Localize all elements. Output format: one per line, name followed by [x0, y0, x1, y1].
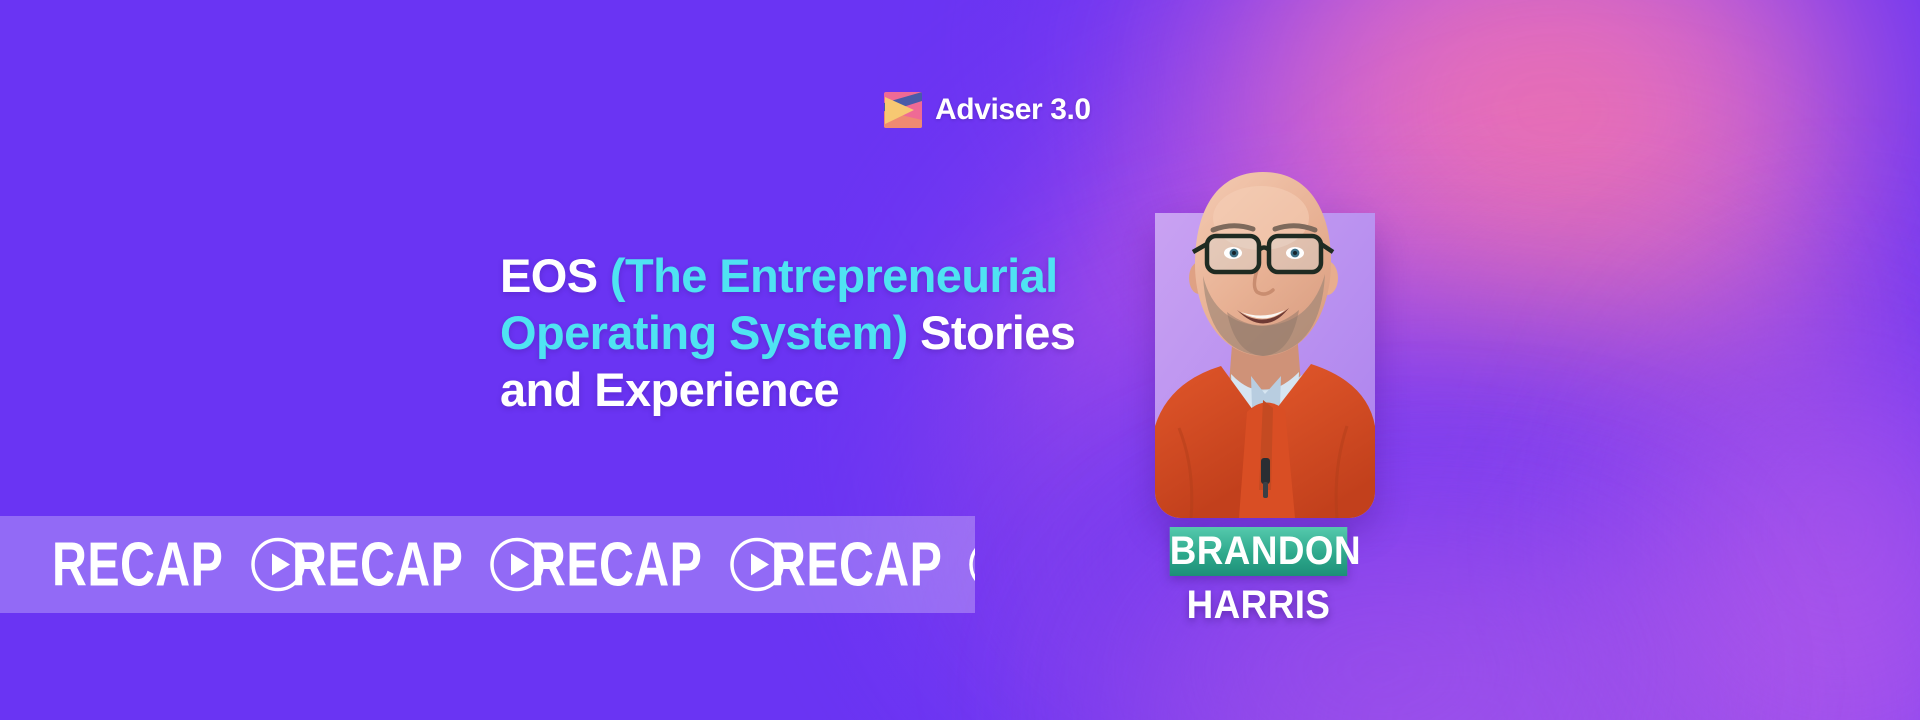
adviser-play-mark-icon	[884, 92, 922, 128]
headline-part-1: EOS	[500, 249, 610, 302]
brand-name-label: Adviser 3.0	[935, 93, 1091, 127]
recap-word: RECAP	[52, 529, 223, 600]
speaker-photo-frame	[1155, 160, 1375, 518]
speaker-last-name: HARRIS	[1170, 580, 1348, 630]
recap-marquee-track: RECAP RECAP RECAP RECAP RECAP	[52, 529, 975, 600]
recap-word: RECAP	[771, 529, 942, 600]
avatar	[1155, 160, 1375, 518]
page-title: EOS (The Entrepreneurial Operating Syste…	[500, 248, 1140, 419]
speaker-name-badge: BRANDON HARRIS	[1162, 527, 1355, 630]
recap-banner: RECAP RECAP RECAP RECAP RECAP	[0, 516, 975, 613]
speaker-first-name: BRANDON	[1170, 527, 1348, 576]
recap-word: RECAP	[531, 529, 702, 600]
recap-word: RECAP	[292, 529, 463, 600]
play-circle-icon[interactable]	[968, 537, 975, 593]
brand-logo[interactable]: Adviser 3.0	[884, 92, 1091, 128]
